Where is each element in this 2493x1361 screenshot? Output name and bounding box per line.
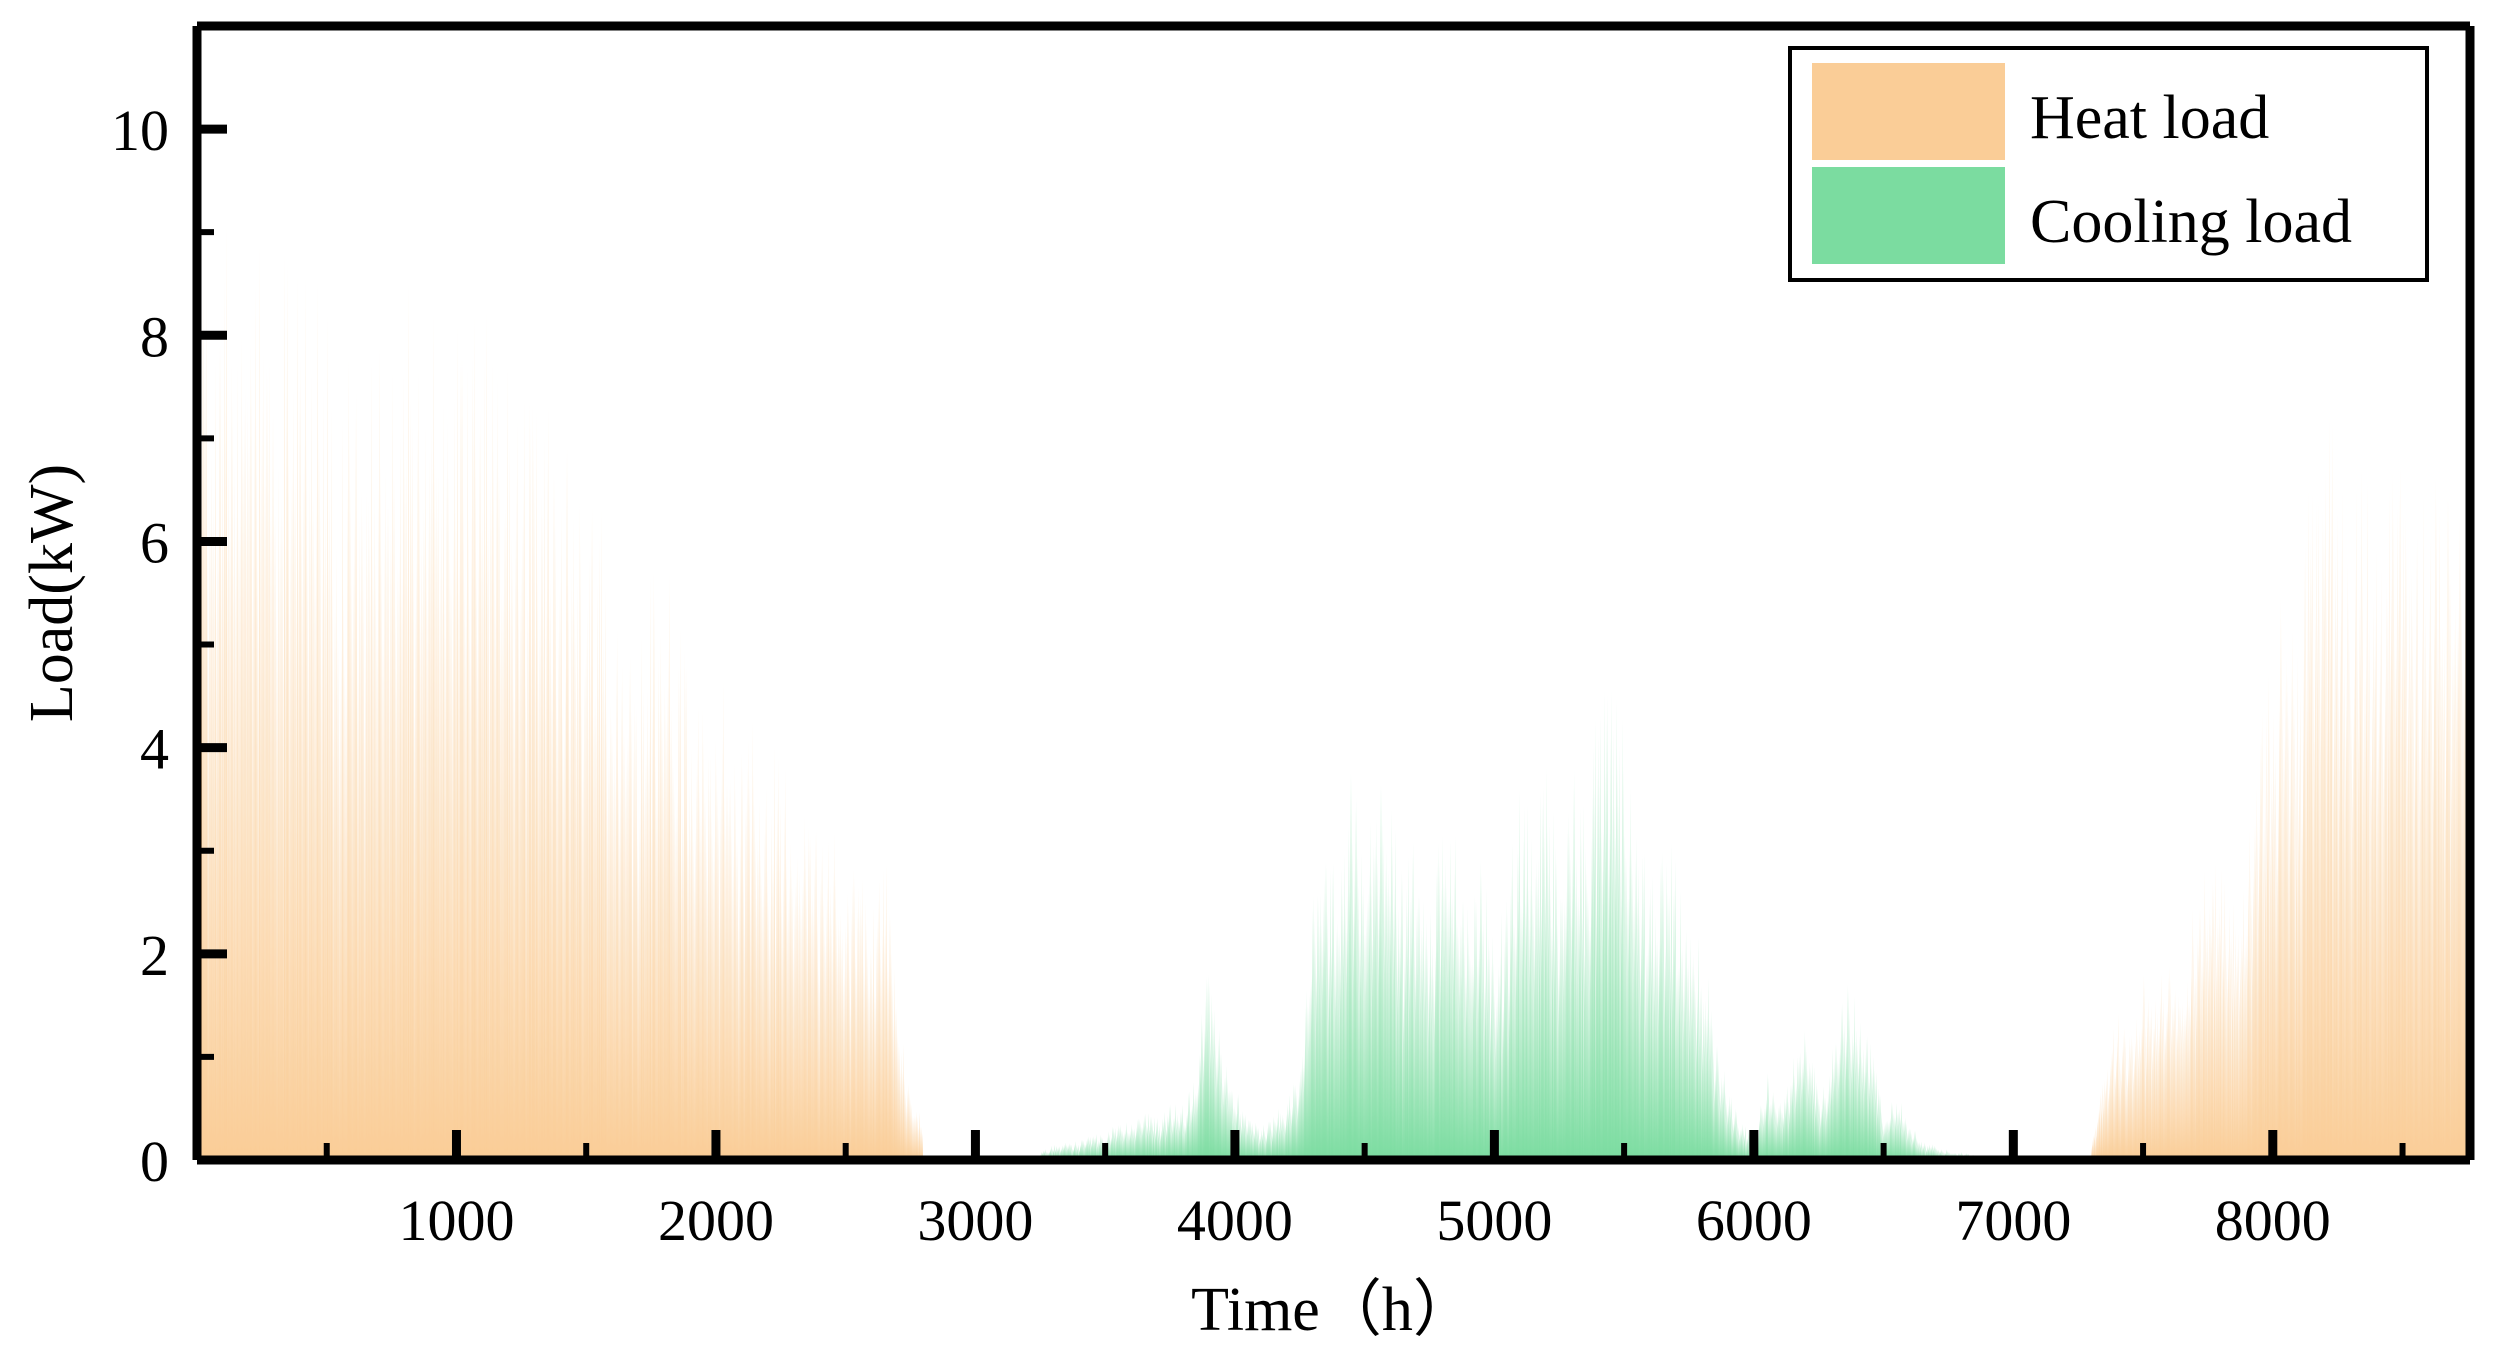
legend-label-heat-load: Heat load	[2030, 84, 2269, 152]
x-tick-label: 8000	[2215, 1188, 2331, 1253]
x-tick-label: 7000	[1955, 1188, 2071, 1253]
y-tick-label: 2	[140, 923, 169, 988]
x-tick-label: 3000	[917, 1188, 1033, 1253]
y-tick-label: 10	[111, 98, 169, 163]
x-tick-label: 5000	[1436, 1188, 1552, 1253]
legend-label-cooling-load: Cooling load	[2030, 188, 2352, 256]
y-tick-label: 0	[140, 1129, 169, 1194]
heat-load-swatch	[1812, 63, 2005, 160]
load-profile-chart: 100020003000400050006000700080000246810 …	[0, 0, 2493, 1361]
x-tick-label: 1000	[398, 1188, 514, 1253]
x-tick-label: 6000	[1696, 1188, 1812, 1253]
chart-legend: Heat load Cooling load	[1790, 48, 2427, 280]
y-tick-label: 6	[140, 510, 169, 575]
cooling-load-swatch	[1812, 167, 2005, 264]
y-axis-title: Load(kW)	[18, 464, 86, 722]
x-tick-label: 4000	[1177, 1188, 1293, 1253]
y-tick-label: 4	[140, 717, 169, 782]
x-axis-title: Time（h）	[1191, 1276, 1475, 1344]
y-tick-label: 8	[140, 304, 169, 369]
x-tick-label: 2000	[658, 1188, 774, 1253]
chart-figure: 100020003000400050006000700080000246810 …	[0, 0, 2493, 1361]
